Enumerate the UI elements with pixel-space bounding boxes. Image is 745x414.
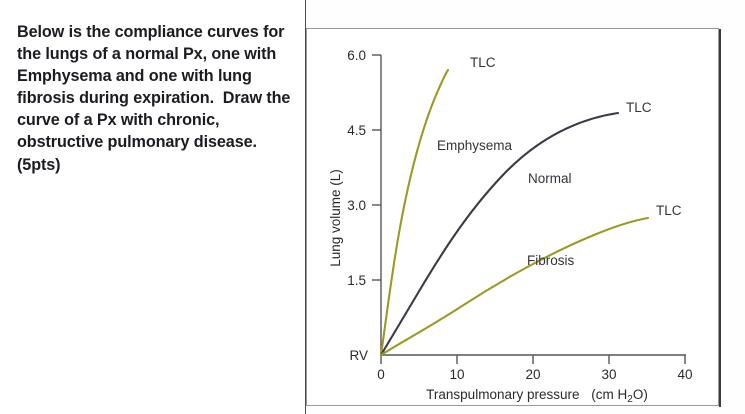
y-tick-label-45: 4.5 xyxy=(347,123,366,138)
label-normal: Normal xyxy=(528,171,572,186)
y-tick-label-rv: RV xyxy=(349,348,368,363)
y-axis-title: Lung volume (L) xyxy=(328,169,343,267)
x-tick-label-10: 10 xyxy=(449,367,464,382)
x-axis-units-pre: (cm H xyxy=(591,387,627,402)
curve-emphysema xyxy=(381,70,448,355)
label-tlc-fibrosis: TLC xyxy=(656,203,682,218)
y-tick-label-30: 3.0 xyxy=(347,198,366,213)
y-tick-label-6: 6.0 xyxy=(347,48,366,63)
compliance-curves-chart: 6.0 4.5 3.0 1.5 RV 0 10 20 30 40 Transpu… xyxy=(306,28,719,406)
x-axis-units-post: O) xyxy=(633,387,648,402)
label-fibrosis: Fibrosis xyxy=(527,253,575,268)
x-axis-title: Transpulmonary pressure (cm H2O) xyxy=(426,387,648,405)
x-axis-title-main: Transpulmonary pressure xyxy=(426,387,579,402)
x-tick-label-40: 40 xyxy=(677,367,692,382)
question-prompt-text: Below is the compliance curves for the l… xyxy=(17,21,299,176)
question-panel: Below is the compliance curves for the l… xyxy=(0,0,305,414)
x-tick-label-20: 20 xyxy=(525,367,540,382)
label-tlc-emphysema: TLC xyxy=(470,55,496,70)
x-tick-label-0: 0 xyxy=(377,367,385,382)
y-tick-label-15: 1.5 xyxy=(347,273,366,288)
x-tick-label-30: 30 xyxy=(601,367,616,382)
label-tlc-normal: TLC xyxy=(626,100,652,115)
label-emphysema: Emphysema xyxy=(437,138,513,153)
